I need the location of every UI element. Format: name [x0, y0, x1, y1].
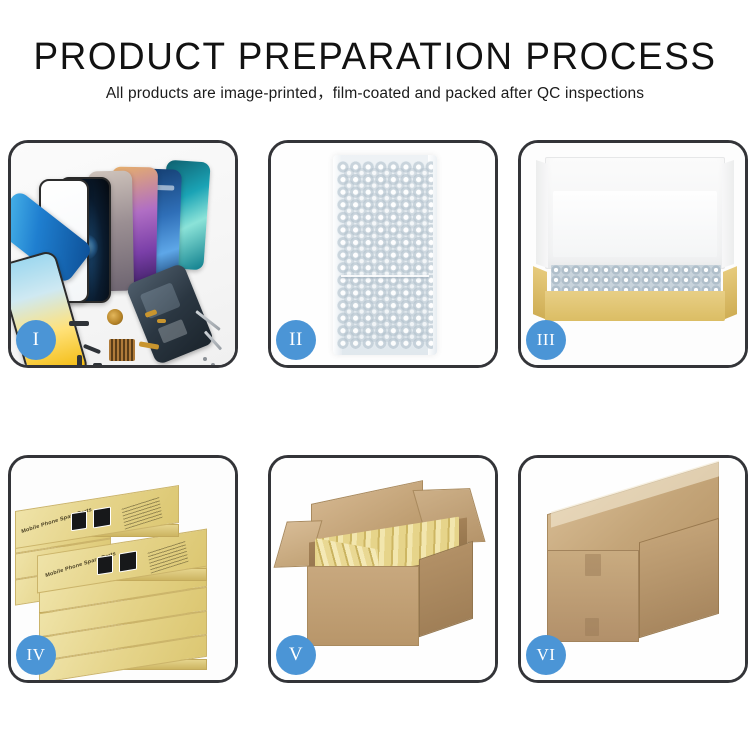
inner-box-front-wall [545, 291, 725, 321]
part-screw-2-icon [211, 363, 215, 365]
box-artwork-screen-top-1 [71, 511, 87, 532]
bubble-wrap-bag [333, 155, 437, 355]
step-badge-6: VI [526, 635, 566, 675]
part-coil-icon [107, 309, 123, 325]
retail-box-right-4 [39, 648, 207, 670]
step-panel-4: Mobile Phone Spare Parts Mobile Phone Sp… [8, 455, 238, 683]
carton-front-panel [307, 566, 419, 646]
bubble-pattern-overlay [343, 167, 429, 343]
carton-side-panel [419, 541, 473, 638]
product-preparation-infographic: PRODUCT PREPARATION PROCESS All products… [0, 0, 750, 750]
part-bracket-icon [83, 344, 101, 354]
inner-box-foam [553, 191, 717, 257]
bag-seam [341, 275, 429, 277]
carton-flap-seam-upper [585, 554, 601, 576]
retail-box-printed-lower: Mobile Phone Spare Parts [37, 542, 207, 580]
step-panel-6: VI [518, 455, 748, 683]
step-badge-4: IV [16, 635, 56, 675]
steps-grid: I II [0, 0, 750, 750]
step-panel-1: I [8, 140, 238, 368]
box-artwork-screen-top-2 [93, 507, 111, 529]
box-artwork-screen-lower-1 [97, 555, 113, 576]
inner-box-right-wall [723, 266, 737, 320]
part-connector-icon [157, 319, 166, 323]
carton-flap-seam-lower [585, 618, 599, 636]
retail-box-printed-top: Mobile Phone Spare Parts [15, 498, 179, 536]
step-panel-3: III [518, 140, 748, 368]
part-chip-grid-icon [109, 339, 135, 361]
step-badge-2: II [276, 320, 316, 360]
step-panel-2: II [268, 140, 498, 368]
part-pin-icon [77, 355, 82, 365]
step-badge-1: I [16, 320, 56, 360]
step-panel-5: V [268, 455, 498, 683]
part-button-icon [93, 363, 102, 365]
step-badge-5: V [276, 635, 316, 675]
step-badge-3: III [526, 320, 566, 360]
box-artwork-screen-lower-2 [119, 551, 137, 573]
part-speaker-icon [69, 321, 89, 326]
part-screw-icon [203, 357, 207, 361]
